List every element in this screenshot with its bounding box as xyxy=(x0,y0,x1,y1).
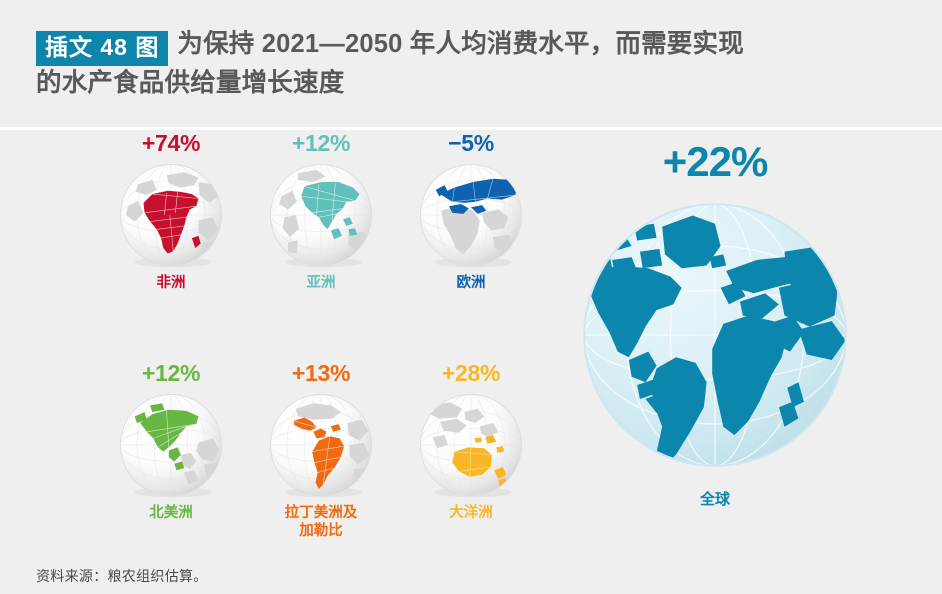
region-row-bottom: +12% xyxy=(96,360,556,590)
latin-america-label: 拉丁美洲及 加勒比 xyxy=(246,504,396,540)
global-percent: +22% xyxy=(560,138,870,186)
oceania-label: 大洋洲 xyxy=(396,504,546,522)
latin-america-percent: +13% xyxy=(246,360,396,388)
page-title: 为保持 2021—2050 年人均消费水平，而需要实现 xyxy=(177,30,744,58)
region-cell-africa: +74% xyxy=(96,130,246,292)
region-cell-latin-america: +13% xyxy=(246,360,396,540)
title-block: 插文 48 图为保持 2021—2050 年人均消费水平，而需要实现 的水产食品… xyxy=(36,27,906,101)
africa-percent: +74% xyxy=(96,130,246,158)
header: 插文 48 图为保持 2021—2050 年人均消费水平，而需要实现 的水产食品… xyxy=(0,0,942,127)
body: +74% xyxy=(0,130,942,594)
source-note: 资料来源：粮农组织估算。 xyxy=(36,566,208,586)
region-row-top: +74% xyxy=(96,130,556,360)
asia-percent: +12% xyxy=(246,130,396,158)
europe-label: 欧洲 xyxy=(396,274,546,292)
europe-globe xyxy=(416,160,526,270)
asia-label: 亚洲 xyxy=(246,274,396,292)
world-globe xyxy=(576,196,854,474)
region-grid: +74% xyxy=(96,130,556,590)
africa-globe xyxy=(116,160,226,270)
oceania-percent: +28% xyxy=(396,360,546,388)
region-cell-asia: +12% xyxy=(246,130,396,292)
title-line-1: 插文 48 图为保持 2021—2050 年人均消费水平，而需要实现 xyxy=(36,27,906,66)
oceania-globe xyxy=(416,390,526,500)
latin-america-globe xyxy=(266,390,376,500)
title-line-2: 的水产食品供给量增长速度 xyxy=(36,66,906,101)
north-america-label: 北美洲 xyxy=(96,504,246,522)
region-cell-europe: −5% xyxy=(396,130,546,292)
africa-label: 非洲 xyxy=(96,274,246,292)
global-label: 全球 xyxy=(560,488,870,509)
north-america-percent: +12% xyxy=(96,360,246,388)
north-america-globe xyxy=(116,390,226,500)
figure-badge: 插文 48 图 xyxy=(36,31,168,66)
infographic-page: 插文 48 图为保持 2021—2050 年人均消费水平，而需要实现 的水产食品… xyxy=(0,0,942,594)
region-cell-north-america: +12% xyxy=(96,360,246,522)
asia-globe xyxy=(266,160,376,270)
europe-percent: −5% xyxy=(396,130,546,158)
region-cell-oceania: +28% xyxy=(396,360,546,522)
global-panel: +22% xyxy=(560,138,870,509)
